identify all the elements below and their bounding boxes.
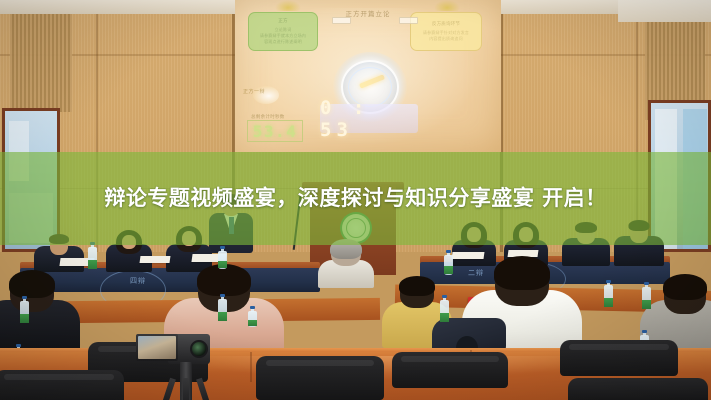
remaining-seconds-counter: 53.4 xyxy=(247,120,303,142)
camera-lcd-preview xyxy=(138,336,176,359)
audience-member xyxy=(0,272,80,360)
ceiling-edge-right xyxy=(618,0,711,22)
chair-highlight xyxy=(4,374,113,380)
audience-hair xyxy=(9,270,55,298)
audience-hair xyxy=(399,276,435,296)
bottle-label xyxy=(20,314,29,323)
bottle-label xyxy=(440,313,449,322)
projection-screen: 正方开篇立论 正方 立论陈词 请参赛辩手就本方立场内 容观点进行陈述阐明 反方质… xyxy=(235,0,501,152)
audience-hair xyxy=(663,274,707,300)
bottle-body xyxy=(88,247,97,269)
chair-highlight xyxy=(569,344,668,350)
bottle-label xyxy=(248,320,257,326)
counter-value: 53.4 xyxy=(253,122,298,141)
chair xyxy=(392,352,508,388)
bottle-body xyxy=(218,299,227,321)
bottle-body xyxy=(218,251,227,269)
table-joint xyxy=(250,352,252,382)
overlay-text-block: 辩论专题视频盛宴，深度探讨与知识分享盛宴 开启！ xyxy=(36,184,676,214)
green-text-overlay-band: 辩论专题视频盛宴，深度探讨与知识分享盛宴 开启！ xyxy=(0,152,711,245)
chair xyxy=(0,370,124,400)
slide-box-line2: 内容提出质询追问 xyxy=(429,36,463,42)
bottle-body xyxy=(440,300,449,322)
bottle-body xyxy=(20,301,29,323)
tripod-leg xyxy=(183,378,189,400)
bottle-body xyxy=(444,255,453,275)
wall-slat-panel-left xyxy=(10,0,72,112)
screenshot-photo: 正方开篇立论 正方 立论陈词 请参赛辩手就本方立场内 容观点进行陈述阐明 反方质… xyxy=(0,0,711,400)
camera-lcd-screen xyxy=(136,334,178,361)
slide-tag-negative xyxy=(399,17,418,24)
slide-tag-affirmative xyxy=(332,17,351,24)
bottle-label xyxy=(444,266,453,274)
bottle-body xyxy=(248,311,257,327)
slide-box-line2: 容观点进行陈述阐明 xyxy=(264,39,302,45)
slide-box-title: 反方质询环节 xyxy=(432,21,460,28)
chair xyxy=(568,378,708,400)
chair xyxy=(256,356,384,400)
bottle-label xyxy=(88,260,97,269)
bottle-body xyxy=(642,287,651,309)
slide-box-affirmative: 正方 立论陈词 请参赛辩手就本方立场内 容观点进行陈述阐明 xyxy=(248,12,318,51)
bottle-label xyxy=(604,298,613,307)
audience-hair xyxy=(494,256,550,290)
chair-highlight xyxy=(266,360,374,366)
slide-side-label: 正方一辩 xyxy=(243,88,265,95)
slide-box-title: 正方 xyxy=(278,18,287,25)
camera-lens-icon xyxy=(190,340,208,358)
timer-value: 0 : 53 xyxy=(320,97,418,141)
bottle-label xyxy=(218,312,227,321)
score-sheet xyxy=(140,256,171,263)
slide-box-negative: 反方质询环节 请参赛辩手针对对方发言 内容提出质询追问 xyxy=(410,12,482,51)
moderator-at-podium xyxy=(318,240,374,288)
countdown-timer: 0 : 53 xyxy=(320,104,418,133)
chair xyxy=(560,340,678,376)
overlay-line-2: 开启！ xyxy=(542,186,607,210)
panel-table-label: 四辩 xyxy=(130,276,146,286)
table-reflection xyxy=(180,356,600,380)
overlay-line-1: 辩论专题视频盛宴，深度探讨与知识分享盛宴 xyxy=(104,186,534,210)
bottle-label xyxy=(642,300,651,309)
bottle-label xyxy=(218,261,227,268)
bottle-body xyxy=(604,285,613,307)
chair-highlight xyxy=(401,356,498,362)
